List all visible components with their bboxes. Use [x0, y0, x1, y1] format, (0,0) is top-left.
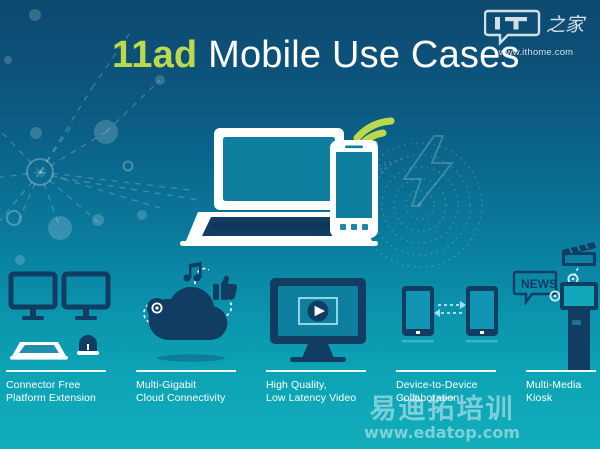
ithome-logo-cn: 之家	[546, 14, 587, 36]
label-text: Multi-Media Kiosk	[526, 379, 600, 406]
label-multi-media-kiosk: Multi-Media Kiosk	[526, 370, 600, 406]
movie-clapperboard-icon	[562, 242, 596, 266]
poster-canvas: 之家 www.ithome.com 11ad Mobile Use Cases	[0, 0, 600, 449]
transfer-shadow	[402, 340, 498, 342]
use-case-icon-row: NEWS	[0, 228, 600, 378]
use-case-labels: Connector Free Platform Extension Multi-…	[0, 370, 600, 449]
divider-rule	[136, 370, 236, 372]
label-text: Multi-Gigabit Cloud Connectivity	[136, 379, 256, 406]
page-title: 11ad Mobile Use Cases	[112, 36, 520, 74]
kiosk-icon[interactable]: NEWS	[512, 228, 600, 370]
smartphone-icon	[330, 140, 378, 238]
dual-monitor-desktop-icon[interactable]	[6, 270, 116, 368]
label-text: High Quality, Low Latency Video	[266, 379, 386, 406]
two-tablets-transfer-icon[interactable]	[398, 280, 502, 366]
news-bubble-label: NEWS	[521, 277, 557, 291]
label-text: Connector Free Platform Extension	[6, 379, 126, 406]
divider-rule	[266, 370, 366, 372]
television-play-icon[interactable]	[268, 276, 368, 368]
thumbs-up-icon	[213, 276, 237, 300]
transfer-arrows	[438, 305, 462, 313]
tablet-right	[466, 286, 498, 336]
tablet-left	[402, 286, 434, 336]
cloud-shadow	[157, 354, 225, 361]
cloud-icon[interactable]	[133, 262, 245, 368]
divider-rule	[396, 370, 496, 372]
kiosk-pedestal	[568, 310, 590, 370]
divider-rule	[6, 370, 106, 372]
label-device-to-device: Device-to-Device Collaboration	[396, 370, 516, 406]
label-connector-free: Connector Free Platform Extension	[6, 370, 126, 406]
label-low-latency-video: High Quality, Low Latency Video	[266, 370, 386, 406]
label-text: Device-to-Device Collaboration	[396, 379, 516, 406]
divider-rule	[526, 370, 596, 372]
label-cloud-connectivity: Multi-Gigabit Cloud Connectivity	[136, 370, 256, 406]
title-highlight: 11ad	[112, 34, 197, 76]
title-rest: Mobile Use Cases	[208, 34, 520, 76]
